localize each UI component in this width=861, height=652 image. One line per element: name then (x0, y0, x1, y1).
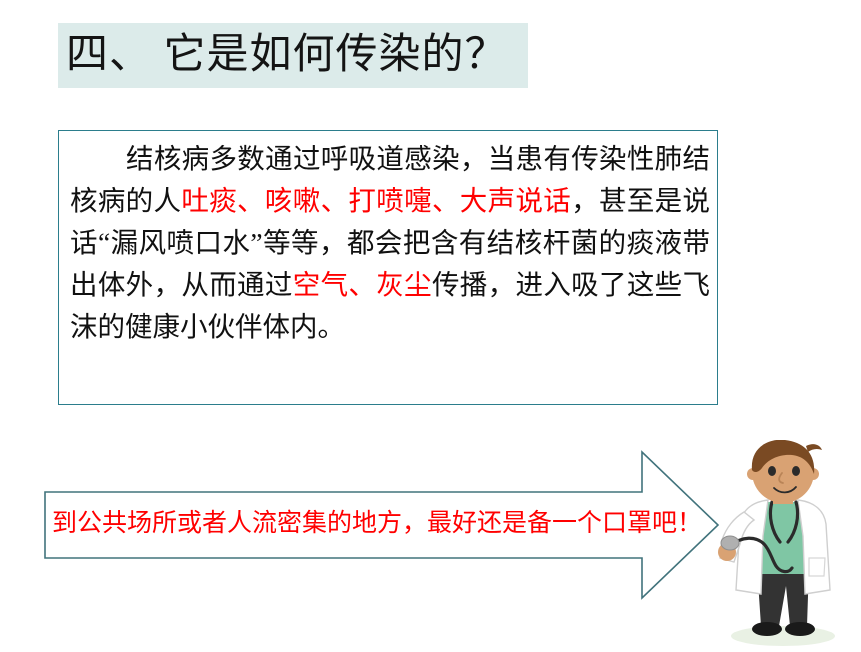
cartoon-doctor-illustration (706, 440, 861, 652)
coat-pocket (809, 558, 825, 576)
pants (757, 566, 809, 626)
page-title: 四、 它是如何传染的？ (66, 23, 536, 88)
eye-left (768, 466, 776, 476)
shoe-left (752, 622, 782, 636)
shoe-right (785, 622, 815, 636)
floor-shadow-ellipse (731, 626, 835, 646)
body-segment-2-highlight: 吐痰、咳嗽、打喷嚏、大声说话 (181, 185, 571, 216)
body-segment-4-highlight: 空气、灰尘 (293, 269, 432, 300)
stethoscope-chestpiece (721, 536, 739, 550)
hair-tuft (806, 444, 822, 452)
body-paragraph: 结核病多数通过呼吸道感染，当患有传染性肺结核病的人吐痰、咳嗽、打喷嚏、大声说话，… (70, 138, 710, 348)
callout-text: 到公共场所或者人流密集的地方，最好还是备一个口罩吧！ (52, 497, 652, 551)
eye-right (792, 466, 800, 476)
